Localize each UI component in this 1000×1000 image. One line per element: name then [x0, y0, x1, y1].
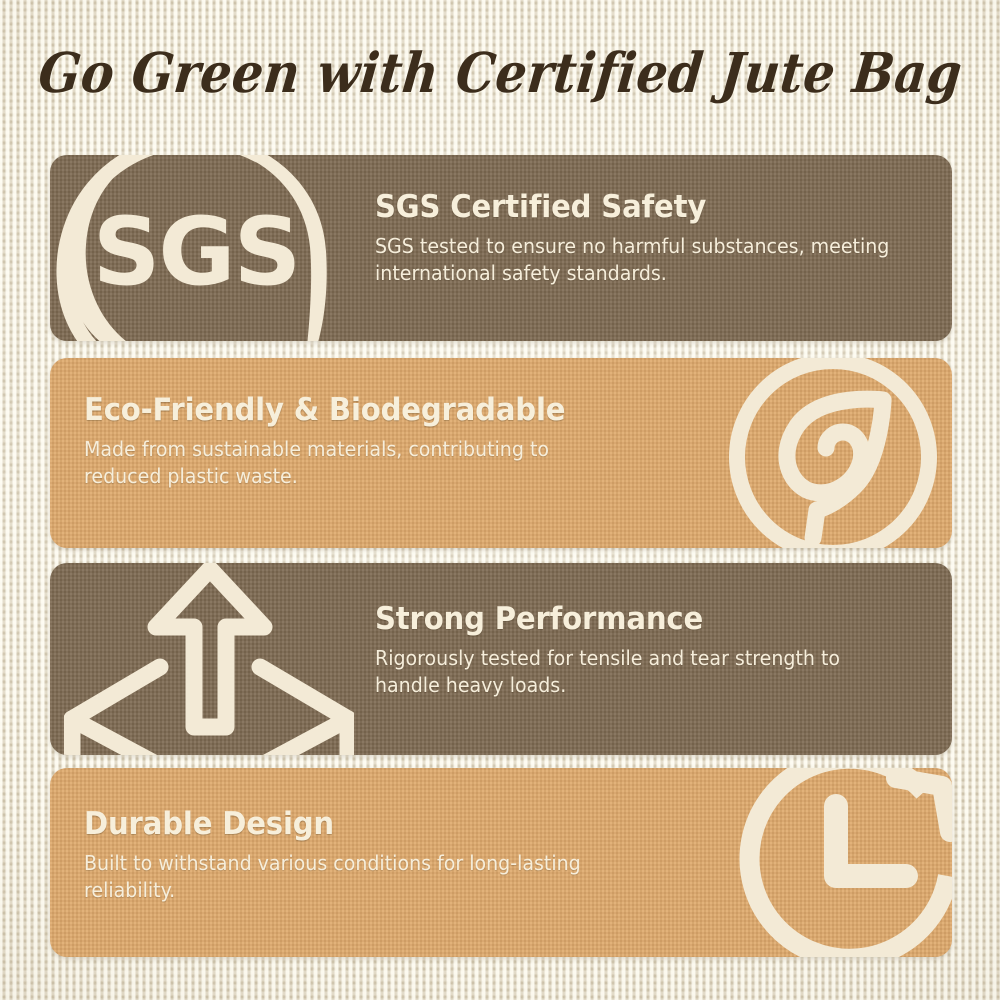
card-description: SGS tested to ensure no harmful substanc…	[375, 233, 895, 288]
card-text-block: Eco-Friendly & Biodegradable Made from s…	[84, 394, 652, 491]
feature-card-sgs-certified-safety[interactable]: SGS SGS Certified Safety SGS tested to e…	[50, 155, 952, 341]
feature-card-durable-design[interactable]: Durable Design Built to withstand variou…	[50, 768, 952, 957]
card-text-block: Strong Performance Rigorously tested for…	[375, 603, 922, 700]
load-capacity-arrow-icon	[64, 563, 354, 755]
svg-text:SGS: SGS	[93, 198, 300, 307]
infographic-page: Go Green with Certified Jute Bag SGS SGS…	[0, 0, 1000, 1000]
feature-card-strong-performance[interactable]: Strong Performance Rigorously tested for…	[50, 563, 952, 755]
card-description: Built to withstand various conditions fo…	[84, 850, 624, 905]
card-text-block: Durable Design Built to withstand variou…	[84, 808, 652, 905]
clock-restore-icon	[710, 768, 952, 957]
leaf-circle-icon	[705, 358, 952, 548]
card-description: Rigorously tested for tensile and tear s…	[375, 645, 895, 700]
card-text-block: SGS Certified Safety SGS tested to ensur…	[375, 191, 922, 288]
card-title: Eco-Friendly & Biodegradable	[84, 394, 618, 427]
page-title-wrap: Go Green with Certified Jute Bag	[0, 44, 1000, 102]
card-title: Durable Design	[84, 808, 618, 841]
feature-card-eco-friendly-biodegradable[interactable]: Eco-Friendly & Biodegradable Made from s…	[50, 358, 952, 548]
card-title: SGS Certified Safety	[375, 191, 889, 224]
sgs-logo-icon: SGS	[56, 155, 356, 341]
card-description: Made from sustainable materials, contrib…	[84, 436, 624, 491]
page-title: Go Green with Certified Jute Bag	[35, 41, 965, 106]
card-title: Strong Performance	[375, 603, 889, 636]
